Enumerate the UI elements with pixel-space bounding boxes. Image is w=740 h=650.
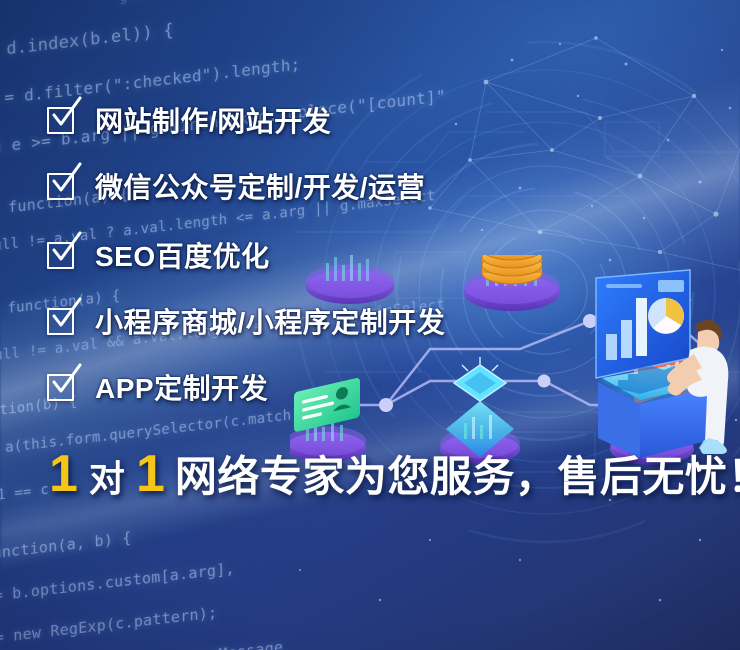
headline-text: 网络专家为您服务，售后无忧！ [175,456,740,498]
checklist-item-label: APP定制开发 [95,367,268,407]
promo-banner: g.selectedAll("input[type=checkbox]") = … [0,0,740,650]
checklist-item-label: 微信公众号定制/开发/运营 [95,166,425,206]
service-checklist: 网站制作/网站开发 微信公众号定制/开发/运营 SEO百度优化 [47,96,687,429]
checkbox-checked-icon[interactable] [47,372,77,402]
checklist-item-label: 网站制作/网站开发 [95,100,331,140]
headline-slogan: 1 对 1 网络专家为您服务，售后无忧！ [47,448,740,500]
checklist-item-label: SEO百度优化 [95,235,270,275]
checklist-item[interactable]: APP定制开发 [47,363,687,411]
checklist-item[interactable]: 微信公众号定制/开发/运营 [47,162,687,210]
checklist-item[interactable]: 网站制作/网站开发 [47,96,687,144]
checklist-item[interactable]: SEO百度优化 [47,231,687,279]
checkbox-checked-icon[interactable] [47,306,77,336]
headline-number-first: 1 [47,448,80,500]
checkbox-checked-icon[interactable] [47,105,77,135]
checklist-item-label: 小程序商城/小程序定制开发 [95,301,445,341]
headline-number-second: 1 [134,448,167,500]
checkbox-checked-icon[interactable] [47,171,77,201]
headline-middle-word: 对 [89,461,125,497]
checklist-item[interactable]: 小程序商城/小程序定制开发 [47,297,687,345]
checkbox-checked-icon[interactable] [47,240,77,270]
